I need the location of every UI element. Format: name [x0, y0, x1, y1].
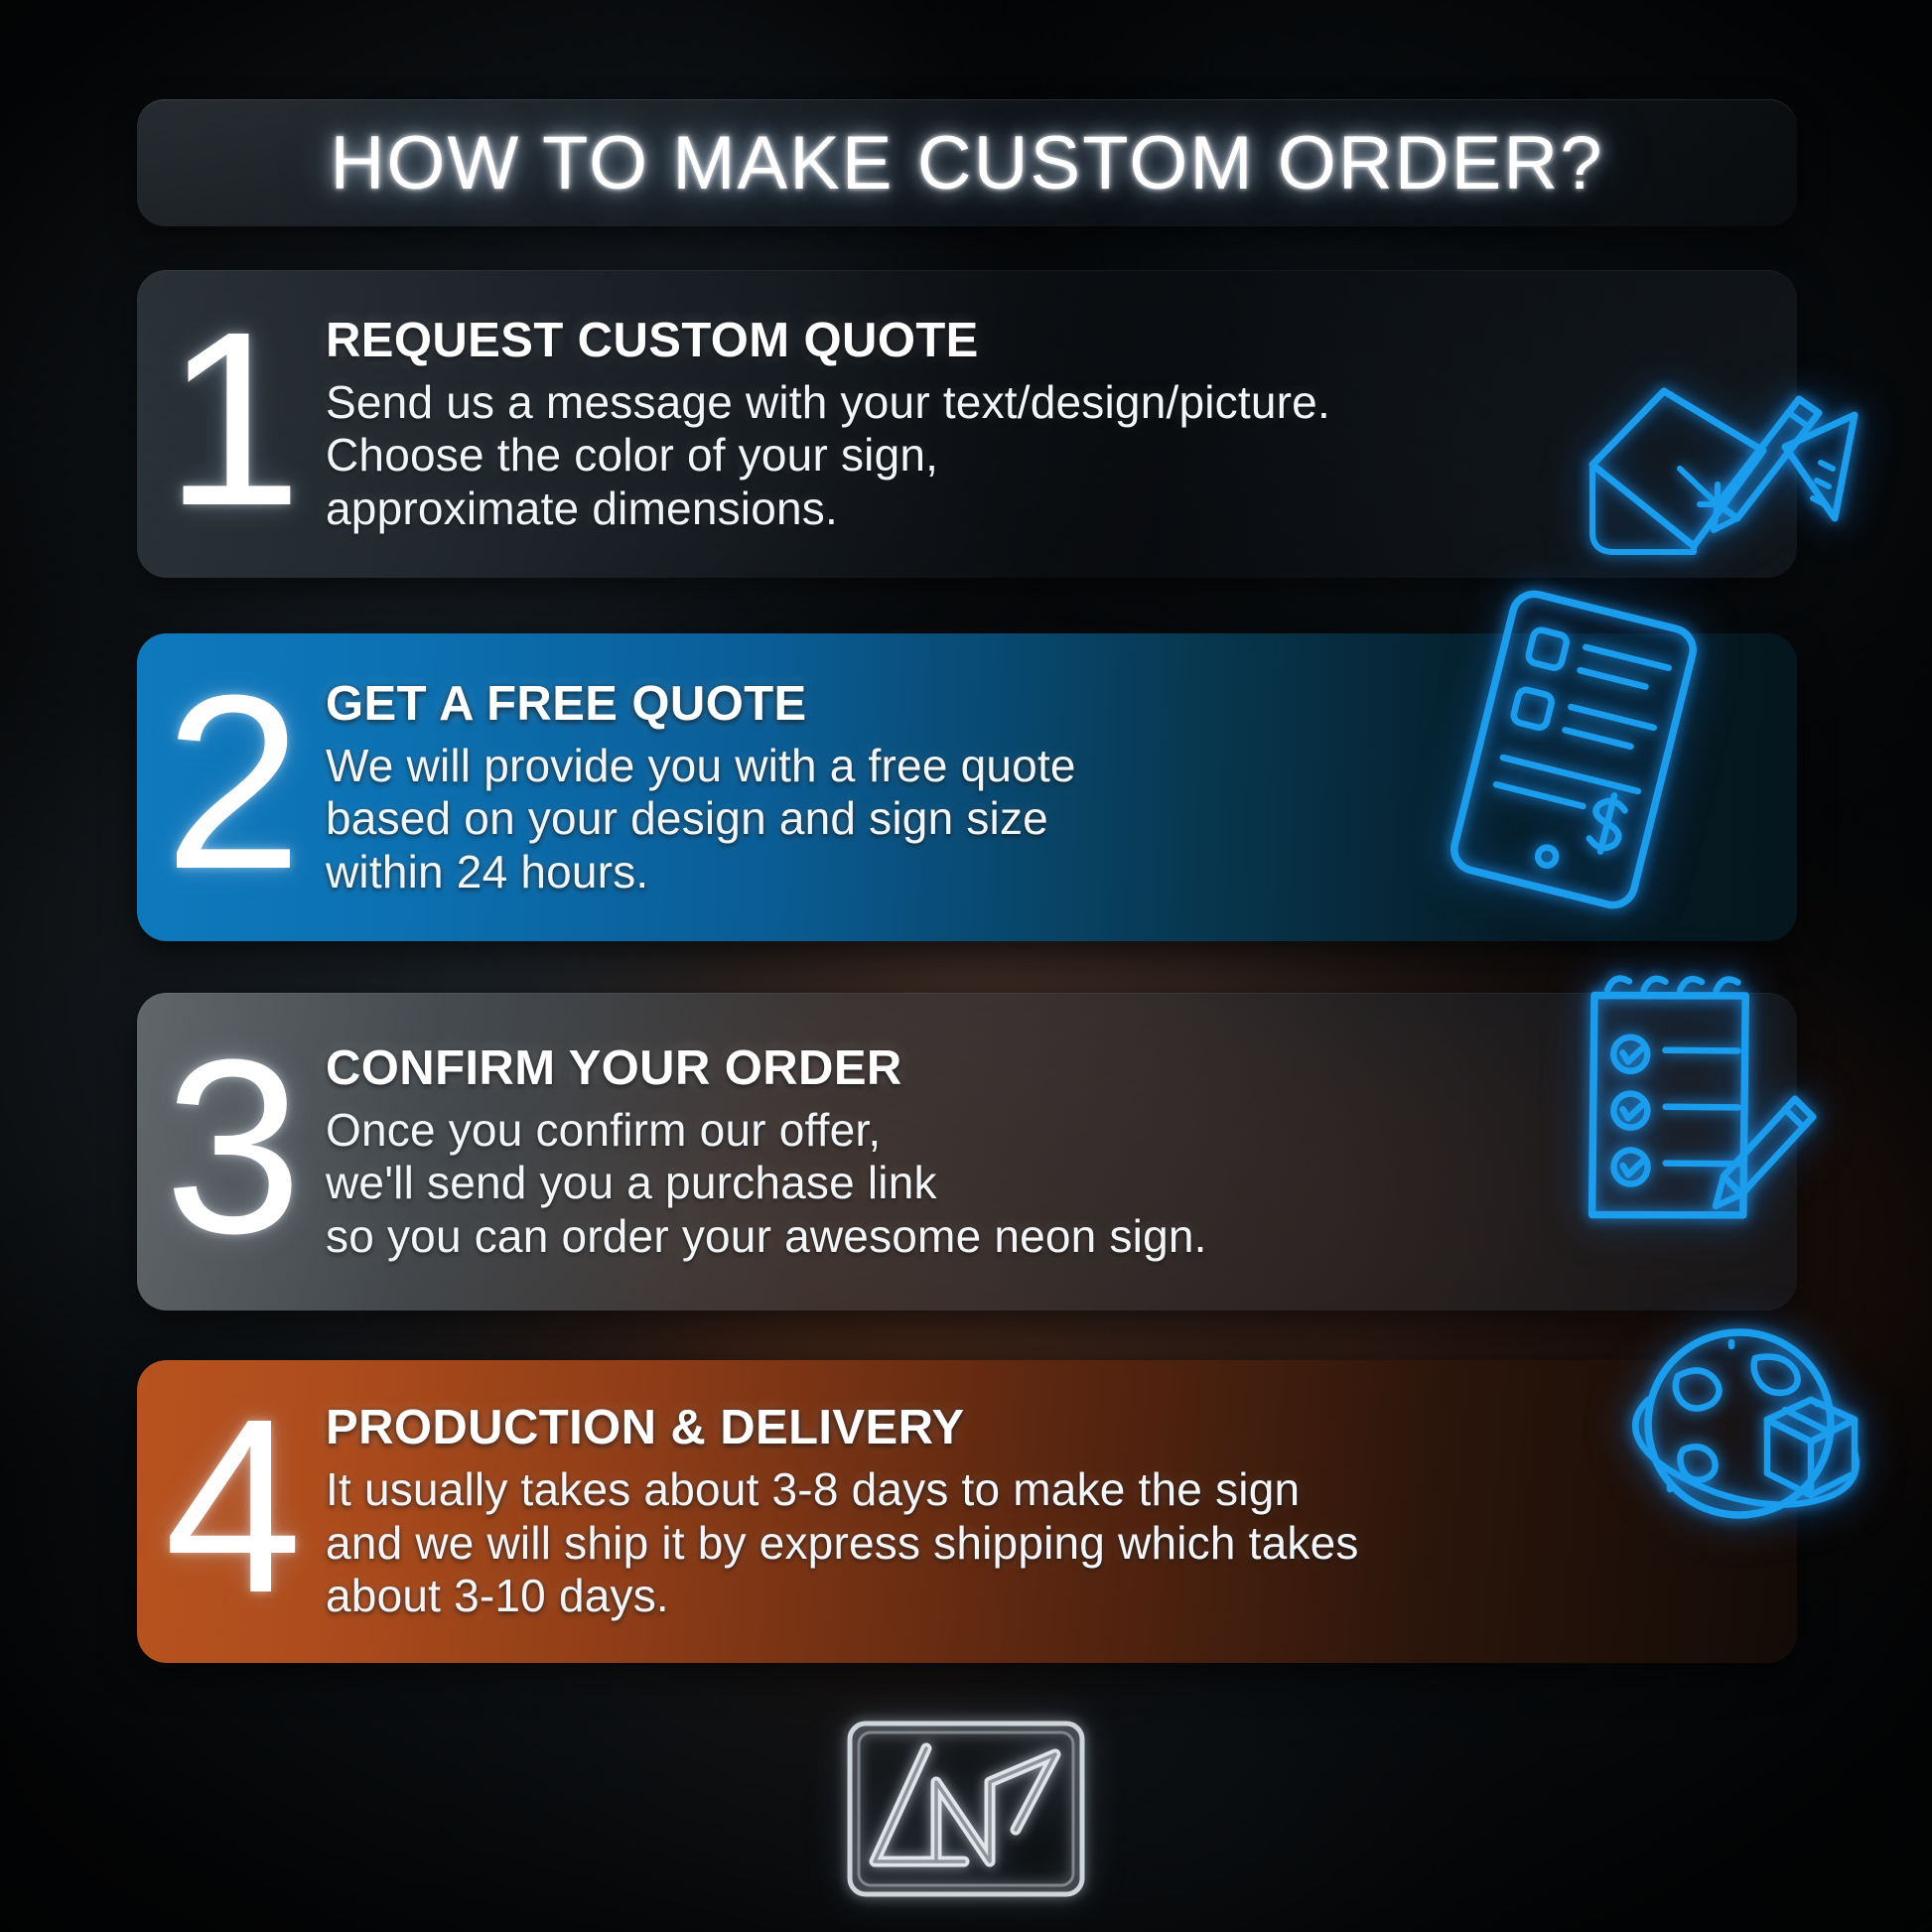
step-card-4: 4 PRODUCTION & DELIVERY It usually takes… [137, 1360, 1797, 1663]
page-title-bar: HOW TO MAKE CUSTOM ORDER? [137, 99, 1797, 226]
step-4-description: It usually takes about 3-8 days to make … [326, 1463, 1763, 1622]
step-4-line-1: It usually takes about 3-8 days to make … [326, 1463, 1763, 1516]
step-2-heading: GET A FREE QUOTE [326, 676, 1763, 732]
step-3-heading: CONFIRM YOUR ORDER [326, 1040, 1763, 1096]
step-1-line-1: Send us a message with your text/design/… [326, 376, 1763, 429]
step-1-number: 1 [137, 317, 326, 532]
step-2-number: 2 [137, 680, 326, 896]
step-3-description: Once you confirm our offer, we'll send y… [326, 1104, 1763, 1263]
step-1-line-2: Choose the color of your sign, [326, 429, 1763, 482]
step-card-3: 3 CONFIRM YOUR ORDER Once you confirm ou… [137, 993, 1797, 1311]
step-card-1: 1 REQUEST CUSTOM QUOTE Send us a message… [137, 270, 1797, 578]
step-3-line-2: we'll send you a purchase link [326, 1157, 1763, 1209]
step-2-line-2: based on your design and sign size [326, 792, 1763, 845]
neon-sign-monogram-logo [841, 1715, 1091, 1903]
step-1-heading: REQUEST CUSTOM QUOTE [326, 313, 1763, 368]
step-4-line-3: about 3-10 days. [326, 1570, 1763, 1622]
step-1-description: Send us a message with your text/design/… [326, 376, 1763, 535]
step-4-number: 4 [137, 1404, 326, 1619]
step-2-line-1: We will provide you with a free quote [326, 740, 1763, 792]
step-3-line-1: Once you confirm our offer, [326, 1104, 1763, 1157]
step-3-line-3: so you can order your awesome neon sign. [326, 1210, 1763, 1263]
step-2-line-3: within 24 hours. [326, 846, 1763, 898]
step-3-number: 3 [137, 1044, 326, 1260]
page-title: HOW TO MAKE CUSTOM ORDER? [330, 120, 1603, 207]
step-1-line-3: approximate dimensions. [326, 483, 1763, 535]
step-2-description: We will provide you with a free quote ba… [326, 740, 1763, 898]
step-4-heading: PRODUCTION & DELIVERY [326, 1400, 1763, 1455]
step-4-line-2: and we will ship it by express shipping … [326, 1517, 1763, 1570]
step-card-2: 2 GET A FREE QUOTE We will provide you w… [137, 633, 1797, 941]
